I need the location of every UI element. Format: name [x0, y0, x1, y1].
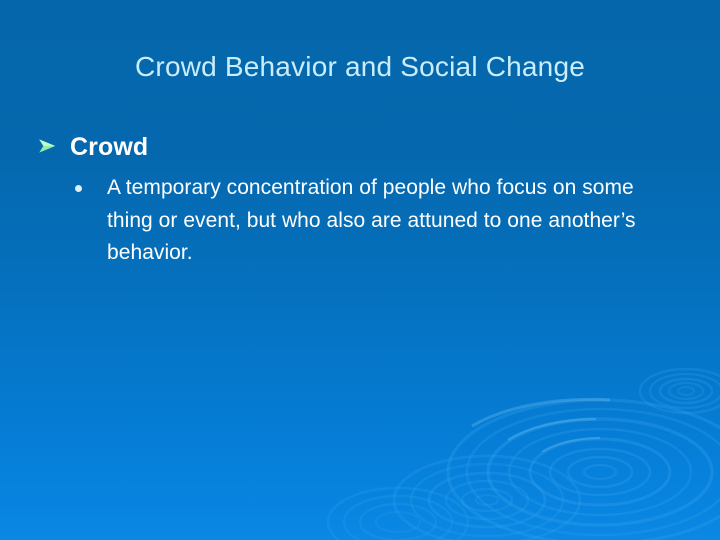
dot-bullet-icon — [75, 185, 82, 192]
bullet-level2: A temporary concentration of people who … — [0, 172, 720, 270]
bullet-level2-label: A temporary concentration of people who … — [107, 172, 652, 270]
bullet-level1-label: Crowd — [70, 132, 148, 162]
slide-title: Crowd Behavior and Social Change — [36, 50, 684, 84]
bullet-level1: Crowd — [0, 132, 720, 162]
arrow-bullet-icon — [36, 135, 58, 157]
slide-body: Crowd A temporary concentration of peopl… — [0, 132, 720, 270]
presentation-slide: Crowd Behavior and Social Change Crowd A… — [0, 0, 720, 540]
